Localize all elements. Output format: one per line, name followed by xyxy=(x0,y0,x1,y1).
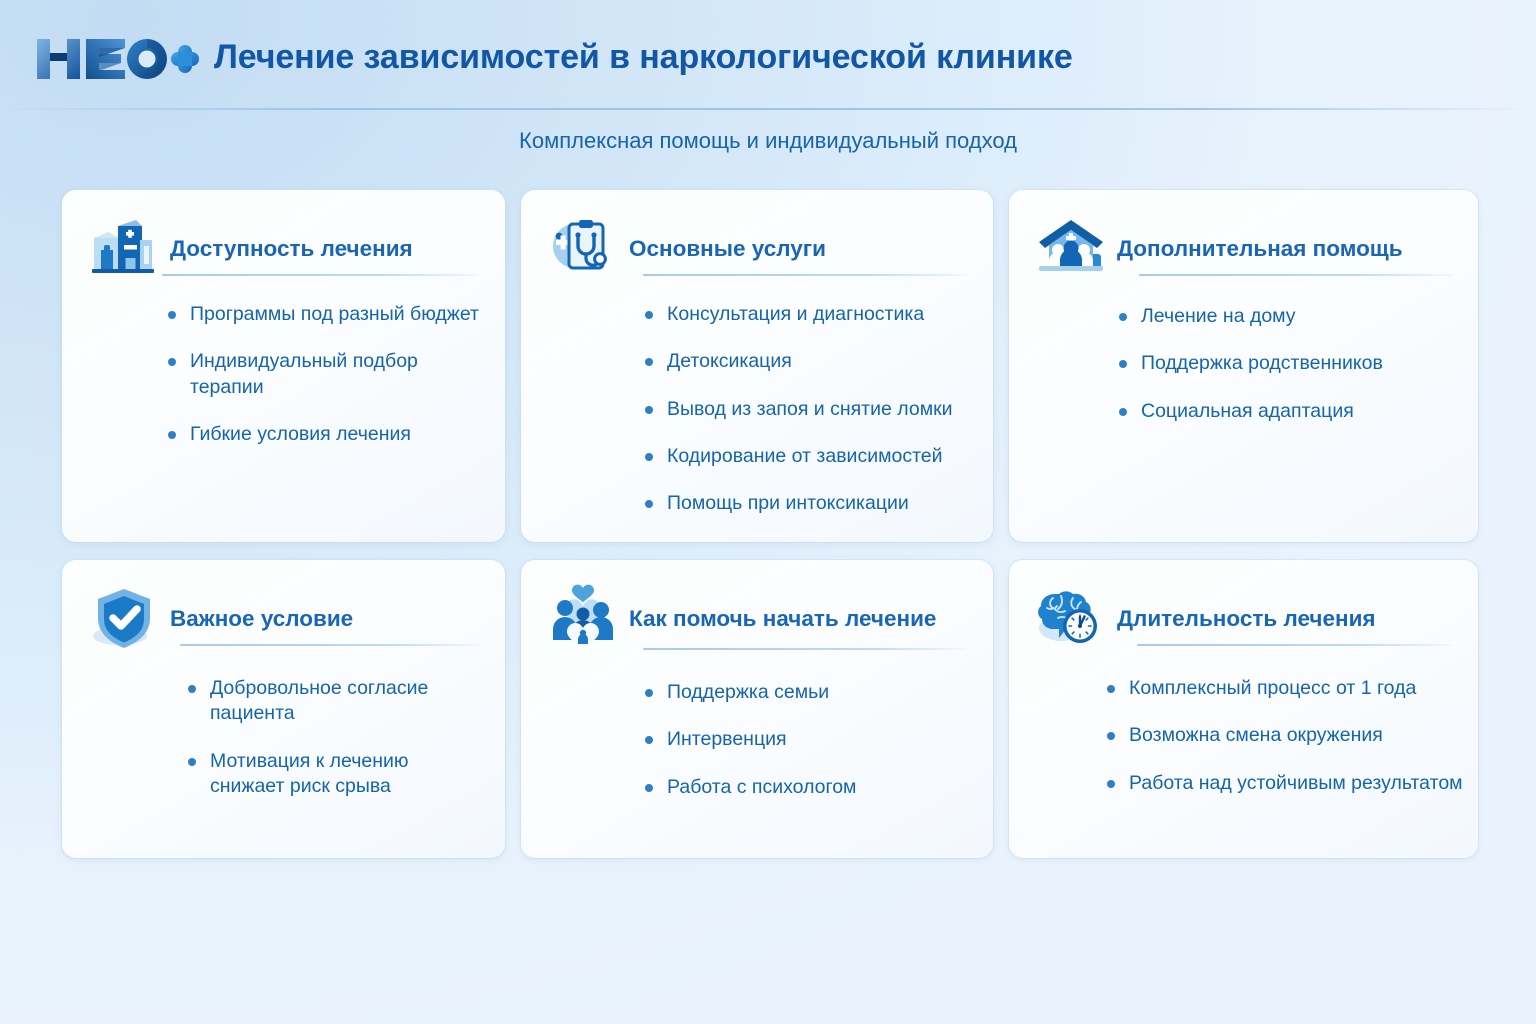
header-divider xyxy=(0,108,1536,110)
card-accessibility[interactable]: Доступность лечения Программы под разный… xyxy=(62,190,505,542)
card-divider xyxy=(643,274,967,276)
card-divider xyxy=(162,274,479,276)
list-item: Вывод из запоя и снятие ломки xyxy=(643,397,975,422)
neo-plus-logo xyxy=(33,33,199,83)
shield-check-icon xyxy=(88,584,160,652)
list-item: Добровольное согласие пациента xyxy=(186,676,487,727)
header: Лечение зависимостей в наркологической к… xyxy=(0,0,1536,108)
list-item: Социальная адаптация xyxy=(1117,399,1460,424)
cards-grid: Доступность лечения Программы под разный… xyxy=(62,190,1468,858)
list-item: Комплексный процесс от 1 года xyxy=(1105,676,1464,701)
list-item: Работа над устойчивым результатом xyxy=(1105,771,1464,796)
card-main-services[interactable]: Основные услуги Консультация и диагности… xyxy=(521,190,993,542)
card-title: Важное условие xyxy=(170,604,353,632)
bullet-list: Консультация и диагностика Детоксикация … xyxy=(643,302,975,539)
home-family-care-icon xyxy=(1035,214,1107,282)
card-header: Длительность лечения xyxy=(1009,560,1478,652)
card-header: Основные услуги xyxy=(521,190,993,282)
page-subtitle: Комплексная помощь и индивидуальный подх… xyxy=(0,128,1536,154)
card-divider xyxy=(643,648,967,650)
card-header: Как помочь начать лечение xyxy=(521,560,993,652)
list-item: Лечение на дому xyxy=(1117,304,1460,329)
card-divider xyxy=(1137,644,1452,646)
clipboard-stethoscope-icon xyxy=(547,214,619,282)
card-title: Длительность лечения xyxy=(1117,604,1376,632)
card-header: Дополнительная помощь xyxy=(1009,190,1478,282)
card-important-condition[interactable]: Важное условие Добровольное согласие пац… xyxy=(62,560,505,858)
list-item: Мотивация к лечению снижает риск срыва xyxy=(186,749,487,800)
list-item: Интервенция xyxy=(643,727,975,752)
list-item: Кодирование от зависимостей xyxy=(643,444,975,469)
card-header: Доступность лечения xyxy=(62,190,505,282)
bullet-list: Комплексный процесс от 1 года Возможна с… xyxy=(1105,676,1464,818)
card-title: Доступность лечения xyxy=(170,234,413,262)
page-title: Лечение зависимостей в наркологической к… xyxy=(214,38,1073,77)
list-item: Работа с психологом xyxy=(643,775,975,800)
bullet-list: Добровольное согласие пациента Мотивация… xyxy=(186,676,487,821)
list-item: Консультация и диагностика xyxy=(643,302,975,327)
card-how-to-start[interactable]: Как помочь начать лечение Поддержка семь… xyxy=(521,560,993,858)
card-title: Как помочь начать лечение xyxy=(629,604,936,632)
card-divider xyxy=(1139,274,1452,276)
infographic-page: Лечение зависимостей в наркологической к… xyxy=(0,0,1536,1024)
list-item: Поддержка родственников xyxy=(1117,351,1460,376)
card-divider xyxy=(180,644,479,646)
brain-clock-icon xyxy=(1035,584,1107,652)
bullet-list: Программы под разный бюджет Индивидуальн… xyxy=(166,302,485,469)
family-heart-icon xyxy=(547,584,619,652)
list-item: Гибкие условия лечения xyxy=(166,422,485,447)
card-title: Дополнительная помощь xyxy=(1117,234,1403,262)
card-treatment-duration[interactable]: Длительность лечения Комплексный процесс… xyxy=(1009,560,1478,858)
list-item: Детоксикация xyxy=(643,349,975,374)
card-header: Важное условие xyxy=(62,560,505,652)
list-item: Программы под разный бюджет xyxy=(166,302,485,327)
list-item: Помощь при интоксикации xyxy=(643,491,975,516)
card-additional-help[interactable]: Дополнительная помощь Лечение на дому По… xyxy=(1009,190,1478,542)
list-item: Индивидуальный подбор терапии xyxy=(166,349,485,400)
bullet-list: Поддержка семьи Интервенция Работа с пси… xyxy=(643,680,975,822)
card-title: Основные услуги xyxy=(629,234,826,262)
bullet-list: Лечение на дому Поддержка родственников … xyxy=(1117,304,1460,446)
list-item: Возможна смена окружения xyxy=(1105,723,1464,748)
hospital-building-icon xyxy=(88,214,160,282)
list-item: Поддержка семьи xyxy=(643,680,975,705)
